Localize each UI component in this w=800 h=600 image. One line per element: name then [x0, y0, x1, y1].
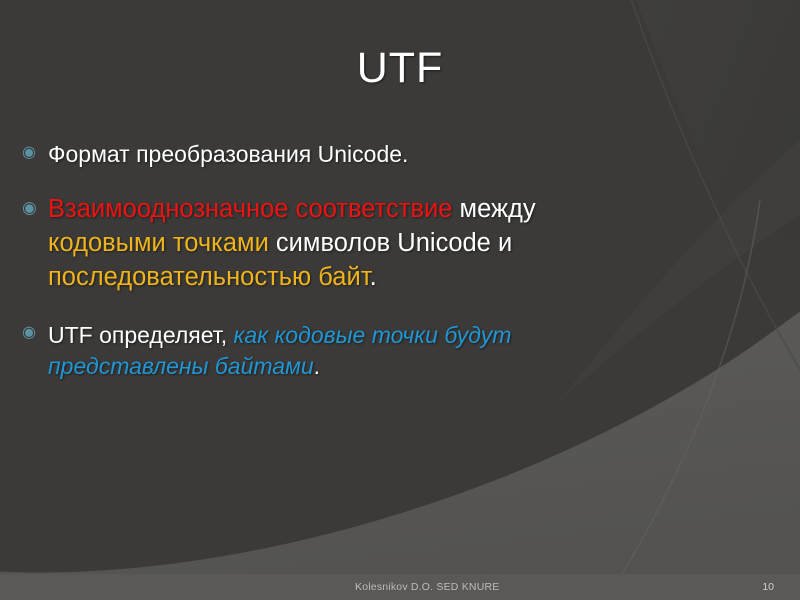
bullet-run: между	[460, 195, 536, 223]
bullet-run: Формат преобразования Unicode.	[48, 141, 408, 167]
footer-author: Kolesnikov D.O. SED KNURE	[355, 581, 499, 593]
bullet-target-icon: ◉	[22, 140, 48, 161]
bullet-target-icon: ◉	[22, 193, 48, 216]
slide-title: UTF	[0, 44, 800, 93]
bullet-target-icon: ◉	[22, 320, 48, 341]
presentation-slide: UTF ◉ Формат преобразования Unicode. ◉ В…	[0, 0, 800, 600]
bullet-run-emphasis-orange: последовательностью байт	[48, 263, 370, 291]
footer-page-number: 10	[762, 581, 774, 593]
background-upper-right-panel	[636, 0, 800, 250]
bullet-run: символов Unicode и	[276, 229, 512, 257]
bullet-text: Формат преобразования Unicode.	[48, 140, 632, 169]
bullet-text: UTF определяет, как кодовые точки будут …	[48, 320, 632, 381]
bullet-run-emphasis-orange: кодовыми точками	[48, 229, 276, 257]
bullet-item: ◉ Формат преобразования Unicode.	[22, 140, 632, 169]
bullet-run-emphasis-red: Взаимооднозначное соответствие	[48, 195, 460, 223]
bullet-run-period: .	[314, 353, 320, 379]
bullet-text: Взаимооднозначное соответствие между код…	[48, 193, 632, 294]
slide-body: ◉ Формат преобразования Unicode. ◉ Взаим…	[22, 140, 632, 382]
bullet-item: ◉ UTF определяет, как кодовые точки буду…	[22, 320, 632, 381]
bullet-item: ◉ Взаимооднозначное соответствие между к…	[22, 193, 632, 294]
bullet-run-period: .	[370, 263, 377, 291]
bullet-run: UTF определяет,	[48, 322, 234, 348]
